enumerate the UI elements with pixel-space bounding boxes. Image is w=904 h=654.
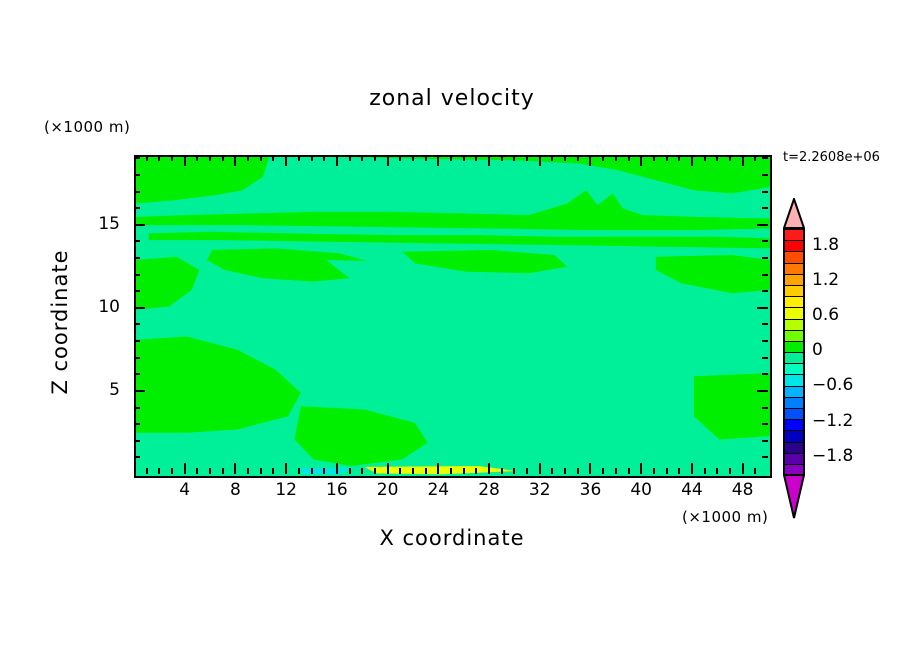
colorbar-tick-label: −1.2: [812, 411, 853, 431]
x-tick: [311, 155, 313, 161]
y-tick: [762, 456, 768, 458]
colorbar-tick-label: 1.2: [812, 270, 839, 290]
x-tick-label: 40: [621, 480, 661, 500]
x-tick: [336, 155, 338, 166]
y-tick: [762, 274, 768, 276]
x-tick: [691, 155, 693, 166]
y-axis-label: Z coordinate: [48, 232, 72, 412]
colorbar-segment: [785, 364, 803, 375]
y-tick: [134, 290, 140, 292]
y-tick-label: 15: [86, 214, 120, 234]
y-tick: [134, 423, 140, 425]
colorbar-segment: [785, 443, 803, 454]
x-tick: [437, 463, 439, 474]
x-tick: [209, 155, 211, 161]
x-tick: [374, 155, 376, 161]
x-tick: [602, 468, 604, 474]
x-tick: [146, 155, 148, 161]
colorbar-body: [783, 228, 805, 474]
x-tick: [247, 155, 249, 161]
y-tick: [762, 174, 768, 176]
y-tick: [762, 440, 768, 442]
colorbar-cap-bottom: [783, 474, 805, 518]
x-tick: [526, 468, 528, 474]
x-tick: [551, 468, 553, 474]
y-tick: [134, 373, 140, 375]
x-tick: [171, 468, 173, 474]
x-tick: [234, 463, 236, 474]
x-tick: [425, 468, 427, 474]
y-tick: [134, 240, 140, 242]
y-tick: [134, 191, 140, 193]
x-tick: [323, 155, 325, 161]
x-tick-label: 20: [368, 480, 408, 500]
x-tick: [463, 468, 465, 474]
x-tick: [361, 468, 363, 474]
y-tick: [762, 407, 768, 409]
y-tick-label: 5: [86, 380, 120, 400]
x-tick: [450, 155, 452, 161]
y-tick: [134, 357, 140, 359]
x-tick: [222, 468, 224, 474]
x-tick: [222, 155, 224, 161]
x-tick: [247, 468, 249, 474]
x-tick: [539, 155, 541, 166]
y-tick: [762, 373, 768, 375]
y-tick: [762, 357, 768, 359]
x-tick: [628, 468, 630, 474]
y-tick: [134, 224, 145, 226]
timestamp-annotation: t=2.2608e+06: [783, 150, 880, 165]
x-tick: [729, 468, 731, 474]
x-tick: [666, 155, 668, 161]
x-tick: [742, 155, 744, 166]
y-tick: [134, 407, 140, 409]
colorbar-segment: [785, 264, 803, 275]
x-tick: [742, 463, 744, 474]
x-tick: [171, 155, 173, 161]
x-tick: [387, 463, 389, 474]
colorbar-segment: [785, 252, 803, 263]
x-tick: [589, 463, 591, 474]
colorbar-segment: [785, 320, 803, 331]
x-tick: [412, 155, 414, 161]
x-tick: [577, 468, 579, 474]
x-tick: [678, 155, 680, 161]
x-tick: [539, 463, 541, 474]
y-tick: [134, 390, 145, 392]
x-tick: [577, 155, 579, 161]
colorbar-tick-label: −1.8: [812, 446, 853, 466]
x-axis-label: X coordinate: [0, 526, 904, 550]
x-tick: [666, 468, 668, 474]
x-tick: [425, 155, 427, 161]
y-tick: [762, 423, 768, 425]
colorbar-segment: [785, 297, 803, 308]
colorbar-segment: [785, 375, 803, 386]
x-tick: [653, 155, 655, 161]
x-tick: [628, 155, 630, 161]
x-tick-label: 4: [165, 480, 205, 500]
x-tick: [196, 468, 198, 474]
x-tick: [387, 155, 389, 166]
colorbar-segment: [785, 275, 803, 286]
x-tick: [615, 468, 617, 474]
y-tick: [762, 257, 768, 259]
x-tick: [488, 463, 490, 474]
colorbar-segment: [785, 308, 803, 319]
x-tick: [349, 468, 351, 474]
x-tick: [602, 155, 604, 161]
colorbar-cap-top: [783, 198, 805, 228]
x-tick-label: 44: [672, 480, 712, 500]
y-tick: [134, 207, 140, 209]
x-tick: [158, 155, 160, 161]
x-tick: [285, 463, 287, 474]
x-tick: [615, 155, 617, 161]
x-tick-label: 8: [215, 480, 255, 500]
x-tick-label: 28: [469, 480, 509, 500]
x-tick: [412, 468, 414, 474]
y-tick: [757, 307, 768, 309]
x-tick: [640, 463, 642, 474]
colorbar-segment: [785, 398, 803, 409]
x-tick: [691, 463, 693, 474]
x-tick: [754, 155, 756, 161]
x-tick: [399, 468, 401, 474]
y-tick: [134, 174, 140, 176]
x-tick: [704, 468, 706, 474]
x-tick: [158, 468, 160, 474]
x-tick: [437, 155, 439, 166]
x-tick: [336, 463, 338, 474]
y-tick: [762, 157, 768, 159]
colorbar-segment: [785, 331, 803, 342]
x-tick: [323, 468, 325, 474]
x-tick: [298, 468, 300, 474]
x-tick: [475, 155, 477, 161]
x-tick: [640, 155, 642, 166]
x-tick: [513, 155, 515, 161]
x-tick: [311, 468, 313, 474]
colorbar-segment: [785, 286, 803, 297]
y-tick: [134, 440, 140, 442]
x-tick: [196, 155, 198, 161]
y-tick: [134, 157, 140, 159]
x-axis-units: (×1000 m): [682, 508, 768, 526]
x-tick: [450, 468, 452, 474]
x-tick: [678, 468, 680, 474]
x-tick: [488, 155, 490, 166]
colorbar-tick-label: 1.8: [812, 235, 839, 255]
colorbar-segment: [785, 454, 803, 465]
x-tick: [513, 468, 515, 474]
y-tick: [134, 456, 140, 458]
colorbar-segment: [785, 387, 803, 398]
colorbar-tick-label: −0.6: [812, 375, 853, 395]
y-axis-units: (×1000 m): [44, 118, 130, 136]
x-tick-label: 36: [570, 480, 610, 500]
x-tick: [589, 155, 591, 166]
y-tick: [757, 224, 768, 226]
x-tick: [272, 468, 274, 474]
x-tick: [564, 468, 566, 474]
y-tick: [134, 257, 140, 259]
y-tick: [134, 274, 140, 276]
y-tick: [762, 290, 768, 292]
x-tick: [501, 468, 503, 474]
y-tick: [762, 340, 768, 342]
x-tick: [361, 155, 363, 161]
contour-plot-area: [134, 155, 772, 478]
x-tick-label: 12: [266, 480, 306, 500]
x-tick: [399, 155, 401, 161]
y-tick: [762, 207, 768, 209]
colorbar-segment: [785, 342, 803, 353]
x-tick: [272, 155, 274, 161]
y-tick-label: 10: [86, 297, 120, 317]
y-tick: [762, 191, 768, 193]
x-tick: [551, 155, 553, 161]
x-tick: [564, 155, 566, 161]
x-tick: [349, 155, 351, 161]
y-tick: [134, 340, 140, 342]
x-tick: [716, 468, 718, 474]
x-tick: [704, 155, 706, 161]
y-tick: [134, 323, 140, 325]
x-tick: [209, 468, 211, 474]
x-tick: [475, 468, 477, 474]
x-tick: [526, 155, 528, 161]
x-tick: [754, 468, 756, 474]
x-tick: [501, 155, 503, 161]
page-title: zonal velocity: [0, 86, 904, 111]
colorbar-segment: [785, 420, 803, 431]
x-tick: [298, 155, 300, 161]
x-tick: [184, 463, 186, 474]
x-tick: [716, 155, 718, 161]
colorbar-segment: [785, 241, 803, 252]
colorbar-segment: [785, 409, 803, 420]
contour-field: [136, 157, 770, 476]
colorbar-segment: [785, 230, 803, 241]
x-tick: [260, 468, 262, 474]
x-tick: [653, 468, 655, 474]
colorbar-tick-label: 0.6: [812, 305, 839, 325]
x-tick: [729, 155, 731, 161]
y-tick: [134, 307, 145, 309]
x-tick: [285, 155, 287, 166]
y-tick: [762, 240, 768, 242]
x-tick: [374, 468, 376, 474]
x-tick: [260, 155, 262, 161]
x-tick: [146, 468, 148, 474]
colorbar-tick-label: 0: [812, 340, 823, 360]
x-tick: [234, 155, 236, 166]
x-tick-label: 48: [723, 480, 763, 500]
y-tick: [757, 390, 768, 392]
x-tick-label: 24: [418, 480, 458, 500]
y-tick: [762, 323, 768, 325]
x-tick: [463, 155, 465, 161]
colorbar-segment: [785, 431, 803, 442]
x-tick-label: 16: [317, 480, 357, 500]
x-tick: [184, 155, 186, 166]
colorbar-segment: [785, 353, 803, 364]
figure-canvas: zonal velocity (×1000 m) (×1000 m) X coo…: [0, 0, 904, 654]
x-tick-label: 32: [520, 480, 560, 500]
